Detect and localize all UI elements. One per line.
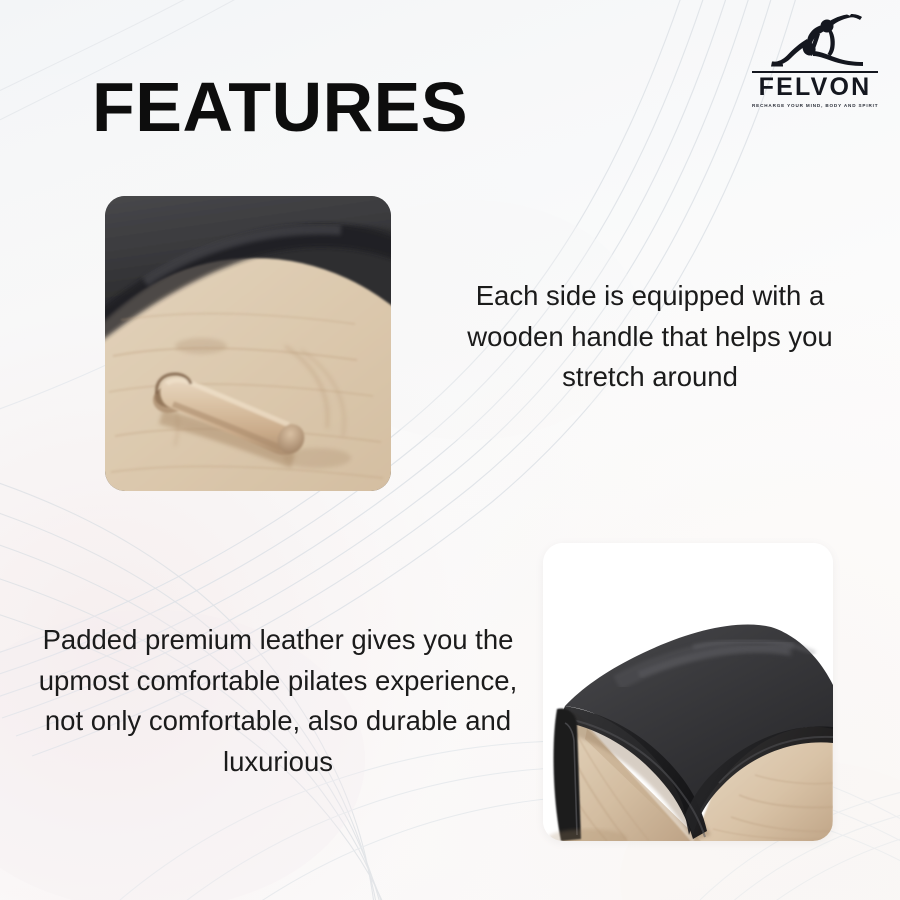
yoga-pose-silhouette-icon — [765, 14, 865, 72]
feature-text-padded-leather: Padded premium leather gives you the upm… — [22, 620, 534, 783]
feature-image-padded-leather — [543, 543, 833, 841]
brand-logo: FELVON RECHARGE YOUR MIND, BODY AND SPIR… — [752, 14, 878, 108]
feature-text-wooden-handle: Each side is equipped with a wooden hand… — [424, 276, 876, 398]
brand-tagline: RECHARGE YOUR MIND, BODY AND SPIRIT — [752, 103, 878, 108]
poster-canvas: FEATURES — [0, 0, 900, 900]
brand-wordmark: FELVON — [752, 71, 878, 100]
page-title: FEATURES — [92, 72, 468, 142]
feature-image-wooden-handle — [105, 196, 391, 491]
